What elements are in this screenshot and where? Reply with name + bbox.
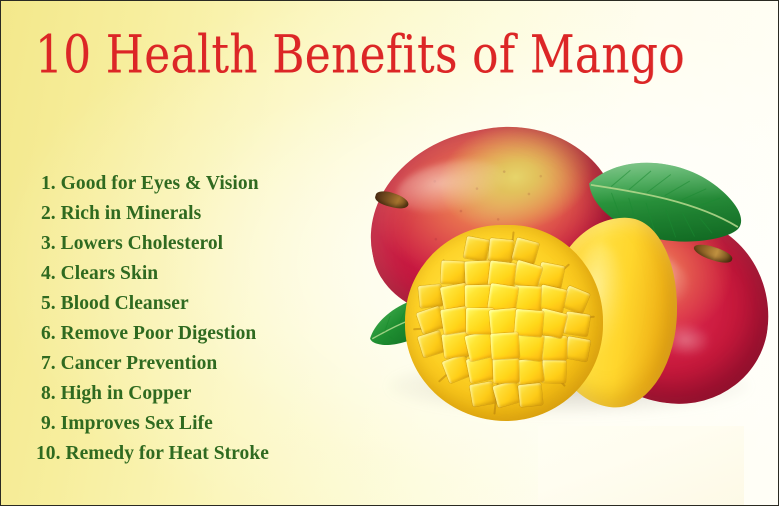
list-item-number: 8. xyxy=(41,383,56,404)
mango-cube xyxy=(492,381,521,409)
list-item: 1. Good for Eyes & Vision xyxy=(41,169,371,199)
mango-cube xyxy=(563,311,590,337)
list-item-label: Improves Sex Life xyxy=(61,413,213,434)
list-item-label: Blood Cleanser xyxy=(61,293,189,314)
list-item-number: 4. xyxy=(41,263,56,284)
list-item: 10. Remedy for Heat Stroke xyxy=(36,439,371,469)
list-item-label: Remove Poor Digestion xyxy=(61,323,257,344)
list-item-number: 10. xyxy=(36,443,61,464)
list-item-label: Clears Skin xyxy=(61,263,159,284)
list-item-label: Lowers Cholesterol xyxy=(61,233,223,254)
list-item-label: Remedy for Heat Stroke xyxy=(65,443,268,464)
list-item: 8. High in Copper xyxy=(41,379,371,409)
list-item-label: High in Copper xyxy=(61,383,192,404)
list-item: 2. Rich in Minerals xyxy=(41,199,371,229)
list-item-number: 9. xyxy=(41,413,56,434)
mango-poster: 10 Health Benefits of Mango 1. Good for … xyxy=(0,0,779,506)
benefits-list: 1. Good for Eyes & Vision 2. Rich in Min… xyxy=(41,169,371,469)
image-patch-overlay xyxy=(538,426,744,506)
list-item-label: Rich in Minerals xyxy=(61,203,202,224)
mango-photo xyxy=(361,121,773,451)
list-item-number: 7. xyxy=(41,353,56,374)
list-item-number: 3. xyxy=(41,233,56,254)
list-item-label: Good for Eyes & Vision xyxy=(61,173,259,194)
mango-cube xyxy=(540,335,566,360)
mango-cube xyxy=(488,238,514,263)
list-item-number: 6. xyxy=(41,323,56,344)
mango-hedgehog-half xyxy=(405,225,603,421)
list-item: 6. Remove Poor Digestion xyxy=(41,319,371,349)
mango-cube xyxy=(512,237,540,264)
mango-cube xyxy=(441,261,467,285)
mango-cube xyxy=(516,357,545,385)
mango-cube xyxy=(469,381,496,407)
list-item: 4. Clears Skin xyxy=(41,259,371,289)
mango-cube xyxy=(490,332,519,360)
mango-cube xyxy=(514,309,544,337)
mango-cube xyxy=(418,284,443,308)
list-item: 3. Lowers Cholesterol xyxy=(41,229,371,259)
mango-cube xyxy=(464,236,491,262)
mango-cube xyxy=(542,360,567,384)
list-item-number: 2. xyxy=(41,203,56,224)
list-item-number: 5. xyxy=(41,293,56,314)
mango-cube xyxy=(564,336,591,362)
list-item-label: Cancer Prevention xyxy=(61,353,218,374)
page-title: 10 Health Benefits of Mango xyxy=(35,29,685,84)
list-item: 5. Blood Cleanser xyxy=(41,289,371,319)
list-item: 7. Cancer Prevention xyxy=(41,349,371,379)
list-item-number: 1. xyxy=(41,173,56,194)
list-item: 9. Improves Sex Life xyxy=(41,409,371,439)
mango-cube xyxy=(492,358,519,384)
mango-cube xyxy=(518,383,543,407)
